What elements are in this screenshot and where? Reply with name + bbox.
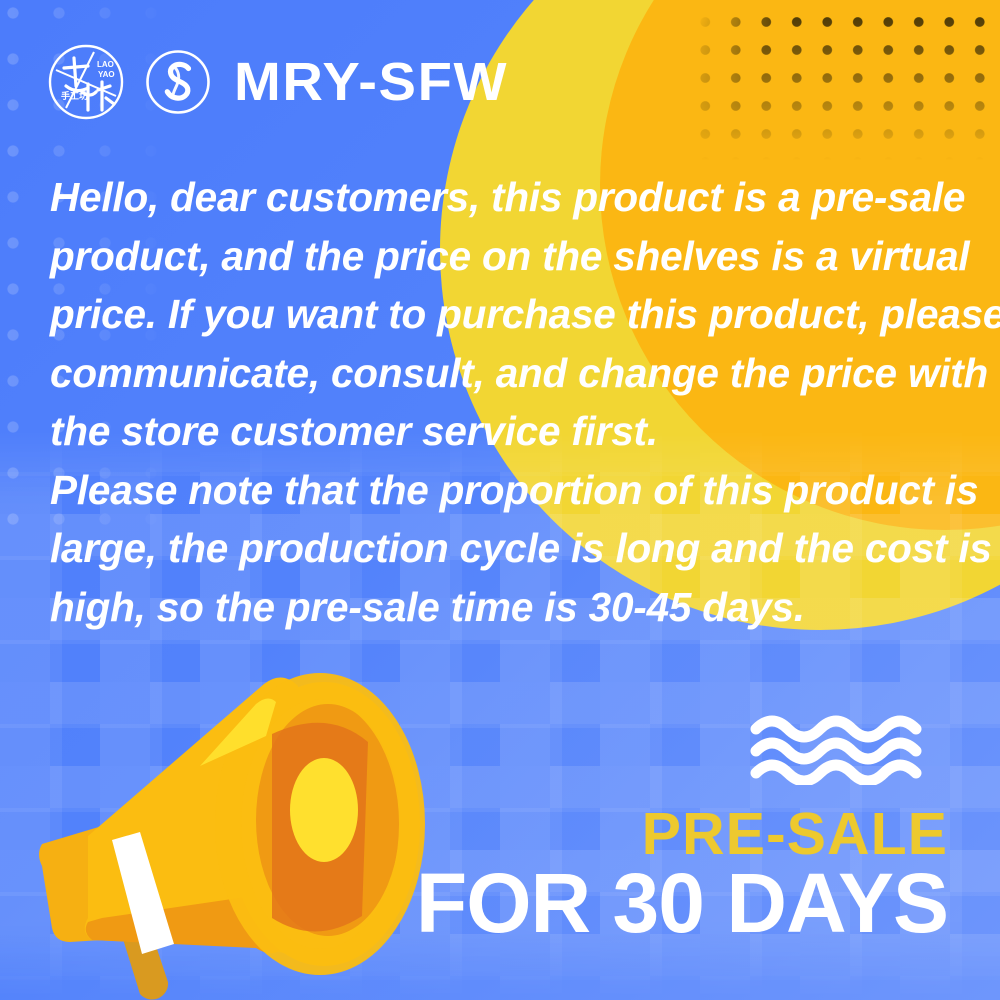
message-line: Please note that the proportion of this … [50,461,950,520]
message-line: the store customer service first. [50,402,950,461]
halftone-dot-pattern [690,0,1000,160]
message-line: price. If you want to purchase this prod… [50,285,950,344]
message-line: high, so the pre-sale time is 30-45 days… [50,578,950,637]
s-monogram-badge-icon [142,46,214,118]
promo-headline-large: FOR 30 DAYS [416,864,948,944]
promo-block: PRE-SALE FOR 30 DAYS [416,713,948,944]
brand-header: LAO YAO 手工坊 MRY-SFW [44,36,497,128]
seal-workshop-text: 手工坊 [61,90,88,101]
megaphone-icon [28,648,438,1000]
message-line: Hello, dear customers, this product is a… [50,168,950,227]
promotional-banner: LAO YAO 手工坊 MRY-SFW Hello, dear customer… [0,0,1000,1000]
message-paragraph-1: Hello, dear customers, this product is a… [50,168,950,461]
wave-lines-icon [416,713,948,790]
brand-wordmark: MRY-SFW [234,55,508,109]
laoyao-seal-logo: LAO YAO 手工坊 [44,40,128,124]
seal-pinyin-top: LAO [97,60,114,69]
message-paragraph-2: Please note that the proportion of this … [50,461,950,637]
message-line: product, and the price on the shelves is… [50,227,950,286]
message-line: large, the production cycle is long and … [50,519,950,578]
message-block: Hello, dear customers, this product is a… [50,168,950,636]
message-line: communicate, consult, and change the pri… [50,344,950,403]
seal-pinyin-bottom: YAO [98,70,115,79]
promo-headline-small: PRE-SALE [416,806,948,862]
